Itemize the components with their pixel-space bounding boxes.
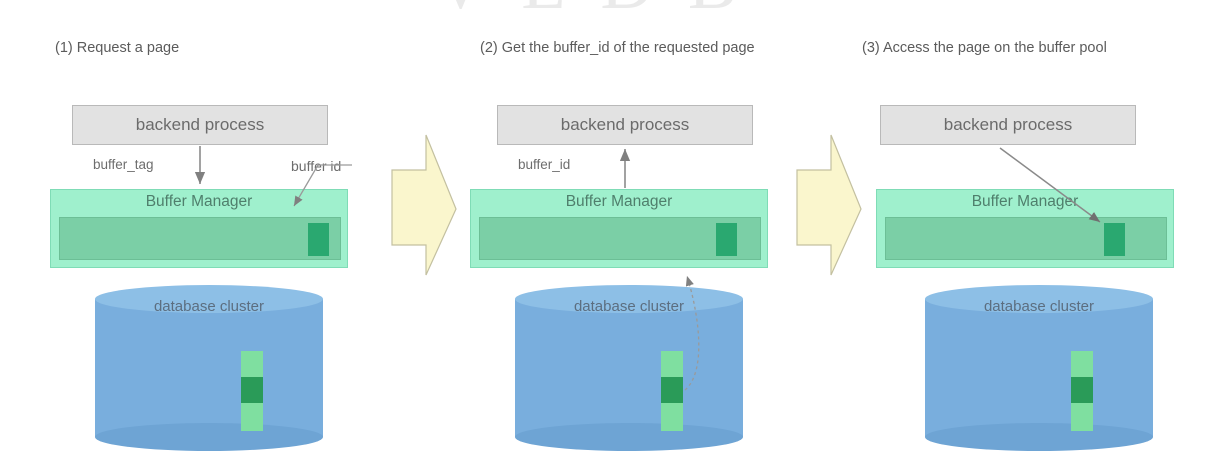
buffer-id-callout-leader: [294, 165, 352, 206]
diagram-canvas: VLDB (1) Request a page backend process …: [0, 0, 1205, 460]
chevron-arrow-step-1-to-2: [392, 135, 456, 275]
arrows-overlay: [0, 0, 1205, 460]
chevron-arrow-step-2-to-3: [797, 135, 861, 275]
page-fetch-dashed-arrow: [685, 276, 699, 390]
page-access-arrow: [1000, 148, 1100, 222]
